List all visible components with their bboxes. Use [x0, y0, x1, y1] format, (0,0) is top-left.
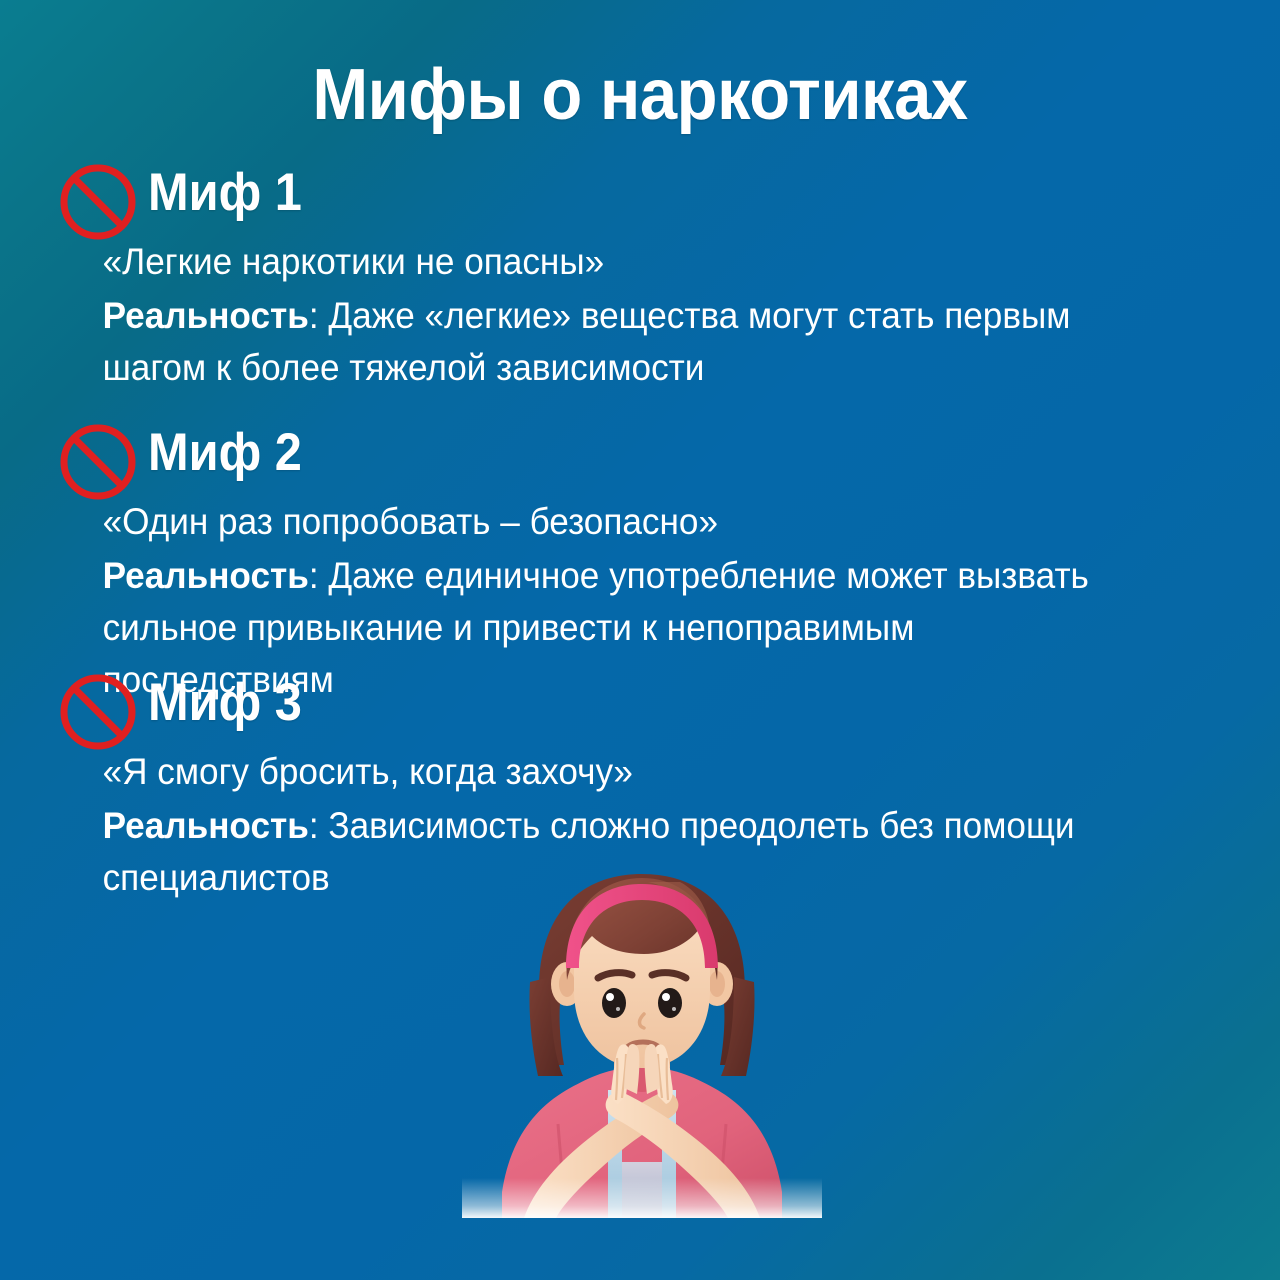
myth-1-header: Миф 1	[0, 158, 1280, 232]
myth-3-reality-label: Реальность	[103, 805, 309, 846]
myth-3-title: Миф 3	[148, 674, 302, 732]
prohibition-icon	[56, 670, 140, 754]
myth-1-reality: Реальность: Даже «легкие» вещества могут…	[103, 290, 1142, 394]
poster-root: Мифы о наркотиках Миф 1 «Легкие наркотик…	[0, 0, 1280, 1280]
myth-block-2: Миф 2 «Один раз попробовать – безопасно»…	[0, 418, 1280, 706]
myth-2-header: Миф 2	[0, 418, 1280, 492]
myth-2-title: Миф 2	[148, 424, 302, 482]
prohibition-icon	[56, 420, 140, 504]
prohibition-icon	[56, 160, 140, 244]
page-title: Мифы о наркотиках	[45, 56, 1235, 134]
myth-2-reality-label: Реальность	[103, 555, 309, 596]
myth-1-title: Миф 1	[148, 164, 302, 222]
myth-1-body: «Легкие наркотики не опасны» Реальность:…	[0, 236, 1216, 394]
myth-3-quote: «Я смогу бросить, когда захочу»	[103, 746, 1142, 798]
myth-3-header: Миф 3	[0, 668, 1280, 742]
myth-block-1: Миф 1 «Легкие наркотики не опасны» Реаль…	[0, 158, 1280, 394]
myth-2-quote: «Один раз попробовать – безопасно»	[103, 496, 1142, 548]
girl-crossed-arms-illustration	[462, 862, 822, 1218]
myth-1-reality-label: Реальность	[103, 295, 309, 336]
myth-1-quote: «Легкие наркотики не опасны»	[103, 236, 1142, 288]
